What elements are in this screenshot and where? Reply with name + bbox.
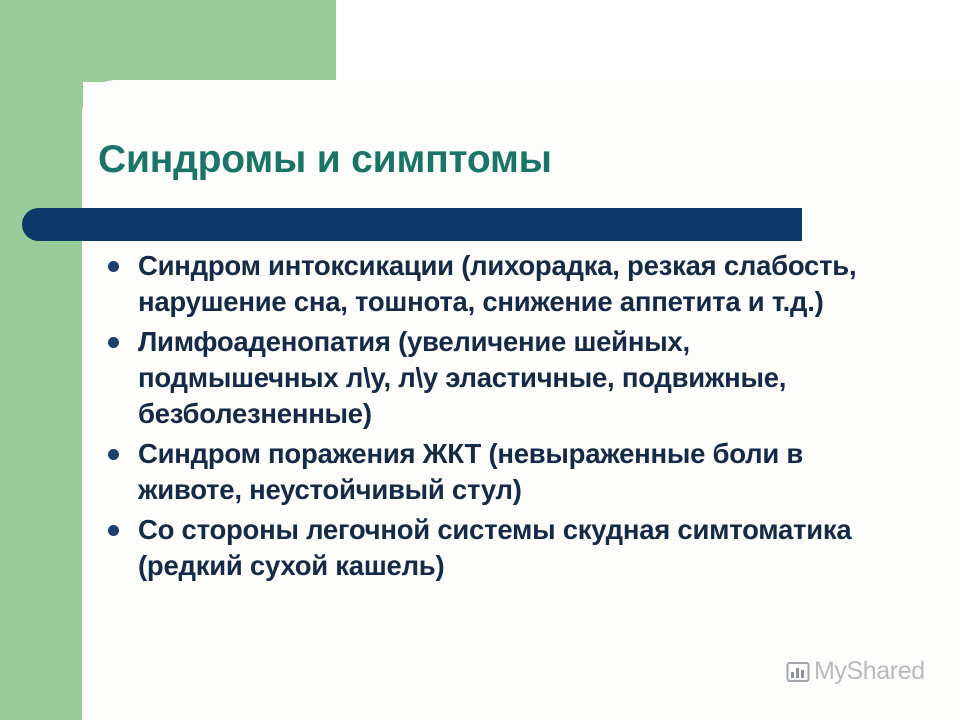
bullet-dot-icon [108,449,119,460]
list-item: Со стороны легочной системы скудная симт… [102,512,892,584]
list-item-text: Со стороны легочной системы скудная симт… [138,512,892,584]
green-left-strip [0,80,83,720]
bullet-dot-icon [108,261,119,272]
symptom-bullet-list: Синдром интоксикации (лихорадка, резкая … [102,248,892,588]
bullet-dot-icon [108,337,119,348]
list-item: Лимфоаденопатия (увеличение шейных, подм… [102,324,892,432]
title-divider-bar [22,208,802,241]
green-accent-block [0,0,336,82]
slide-title: Синдромы и симптомы [98,139,898,182]
list-item-text: Синдром интоксикации (лихорадка, резкая … [138,248,892,320]
list-item: Синдром интоксикации (лихорадка, резкая … [102,248,892,320]
bullet-dot-icon [108,525,119,536]
list-item-text: Лимфоаденопатия (увеличение шейных, подм… [138,324,892,432]
list-item: Синдром поражения ЖКТ (невыраженные боли… [102,436,892,508]
slide-canvas: Синдромы и симптомы Синдром интоксикации… [0,0,960,720]
list-item-text: Синдром поражения ЖКТ (невыраженные боли… [138,436,892,508]
